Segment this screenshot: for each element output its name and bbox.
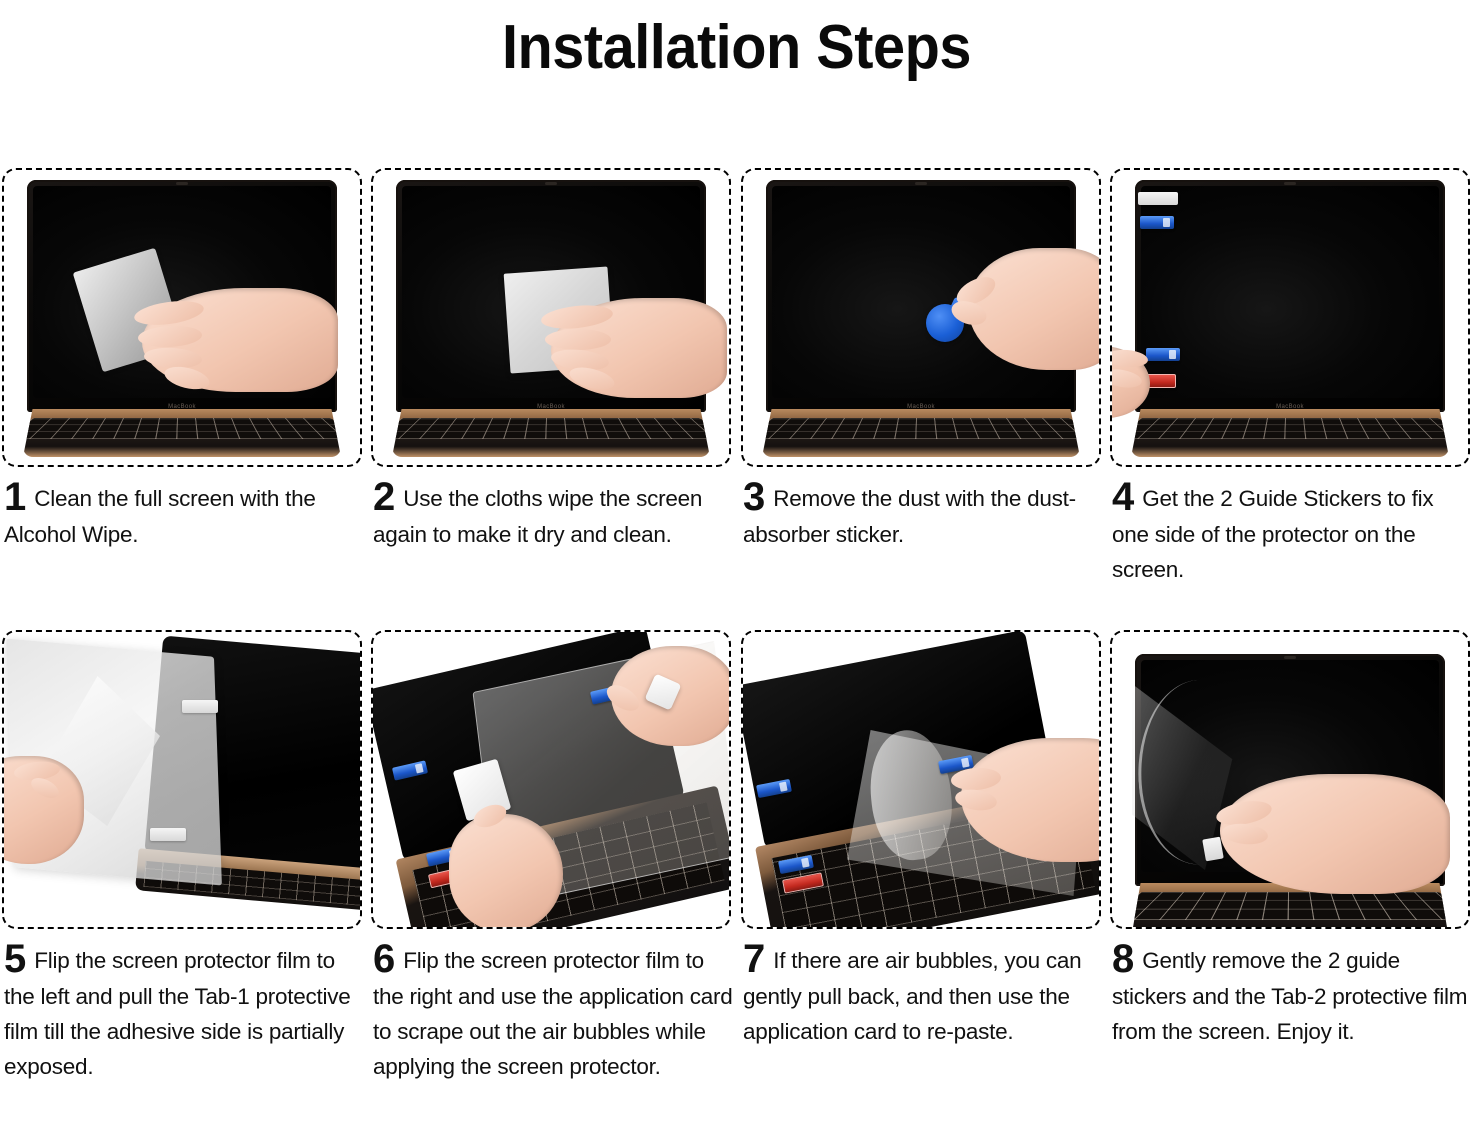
keyboard-icon — [392, 418, 710, 439]
hand-icon — [449, 814, 563, 927]
step-card-8: 8Gently remove the 2 guide stickers and … — [1110, 630, 1470, 1049]
step-number: 5 — [4, 937, 25, 981]
step-illustration-7 — [743, 632, 1099, 927]
laptop-lid: MacBook — [1135, 180, 1445, 412]
tab-2-protective-film-icon — [150, 828, 186, 841]
step-card-2: MacBook 2Use the cloths wipe the scree — [371, 168, 731, 552]
step-text: Flip the screen protector film to the le… — [4, 948, 351, 1079]
step-text: Use the cloths wipe the screen again to … — [373, 486, 702, 547]
laptop-base — [1131, 409, 1449, 457]
step-text: If there are air bubbles, you can gently… — [743, 948, 1081, 1044]
step-illustration-1: MacBook — [4, 170, 360, 465]
step-number: 6 — [373, 937, 394, 981]
step-number: 3 — [743, 475, 764, 519]
step-illustration-6 — [373, 632, 729, 927]
step-number: 8 — [1112, 937, 1133, 981]
step-caption-6: 6Flip the screen protector film to the r… — [371, 939, 737, 1084]
step-caption-1: 1Clean the full screen with the Alcohol … — [2, 477, 368, 552]
step-text: Get the 2 Guide Stickers to fix one side… — [1112, 486, 1433, 582]
step-image-frame-4: MacBook — [1110, 168, 1470, 467]
step-number: 2 — [373, 475, 394, 519]
step-card-1: MacBook 1Clean the full screen with th — [2, 168, 362, 552]
step-caption-5: 5Flip the screen protector film to the l… — [2, 939, 368, 1084]
laptop-base — [392, 409, 710, 457]
step-caption-4: 4Get the 2 Guide Stickers to fix one sid… — [1110, 477, 1473, 587]
steps-grid: MacBook 1Clean the full screen with th — [0, 168, 1473, 1138]
laptop-screen — [1141, 186, 1439, 398]
webcam-icon — [1284, 182, 1296, 185]
step-card-3: MacBook 3Remove the dust with the dust-a… — [741, 168, 1101, 552]
keyboard-icon — [1131, 418, 1449, 439]
webcam-icon — [1284, 656, 1296, 659]
step-caption-2: 2Use the cloths wipe the screen again to… — [371, 477, 737, 552]
step-number: 7 — [743, 937, 764, 981]
laptop-base — [762, 409, 1080, 457]
finger-icon — [545, 329, 611, 350]
guide-sticker-icon — [1140, 216, 1174, 229]
step-image-frame-3: MacBook — [741, 168, 1101, 467]
step-illustration-2: MacBook — [373, 170, 729, 465]
step-image-frame-7 — [741, 630, 1101, 929]
step-text: Flip the screen protector film to the ri… — [373, 948, 733, 1079]
installation-steps-page: Installation Steps MacBook — [0, 0, 1473, 1138]
step-caption-3: 3Remove the dust with the dust-absorber … — [741, 477, 1107, 552]
step-illustration-8 — [1112, 632, 1468, 927]
keyboard-icon — [1131, 892, 1449, 920]
step-caption-8: 8Gently remove the 2 guide stickers and … — [1110, 939, 1473, 1049]
step-number: 4 — [1112, 475, 1133, 519]
tab-2-protective-film-icon — [1138, 192, 1178, 205]
step-text: Remove the dust with the dust-absorber s… — [743, 486, 1076, 547]
step-text: Gently remove the 2 guide stickers and t… — [1112, 948, 1467, 1044]
page-title: Installation Steps — [52, 12, 1422, 83]
step-text: Clean the full screen with the Alcohol W… — [4, 486, 316, 547]
step-card-7: 7If there are air bubbles, you can gentl… — [741, 630, 1101, 1049]
step-illustration-5 — [4, 632, 360, 927]
step-image-frame-5 — [2, 630, 362, 929]
webcam-icon — [545, 182, 557, 185]
step-number: 1 — [4, 475, 25, 519]
step-illustration-3: MacBook — [743, 170, 1099, 465]
step-card-5: 5Flip the screen protector film to the l… — [2, 630, 362, 1084]
step-card-6: 6Flip the screen protector film to the r… — [371, 630, 731, 1084]
webcam-icon — [176, 182, 188, 185]
tab-1-protective-film-icon — [182, 700, 218, 713]
step-image-frame-8 — [1110, 630, 1470, 929]
step-illustration-4: MacBook — [1112, 170, 1468, 465]
guide-sticker-icon — [1146, 348, 1180, 361]
step-image-frame-6 — [371, 630, 731, 929]
step-caption-7: 7If there are air bubbles, you can gentl… — [741, 939, 1107, 1049]
keyboard-icon — [23, 418, 341, 439]
webcam-icon — [915, 182, 927, 185]
laptop-icon: MacBook — [1131, 180, 1449, 463]
step-image-frame-2: MacBook — [371, 168, 731, 467]
keyboard-icon — [762, 418, 1080, 439]
laptop-base — [23, 409, 341, 457]
step-card-4: MacBook 4Get the 2 Guide St — [1110, 168, 1470, 587]
step-image-frame-1: MacBook — [2, 168, 362, 467]
